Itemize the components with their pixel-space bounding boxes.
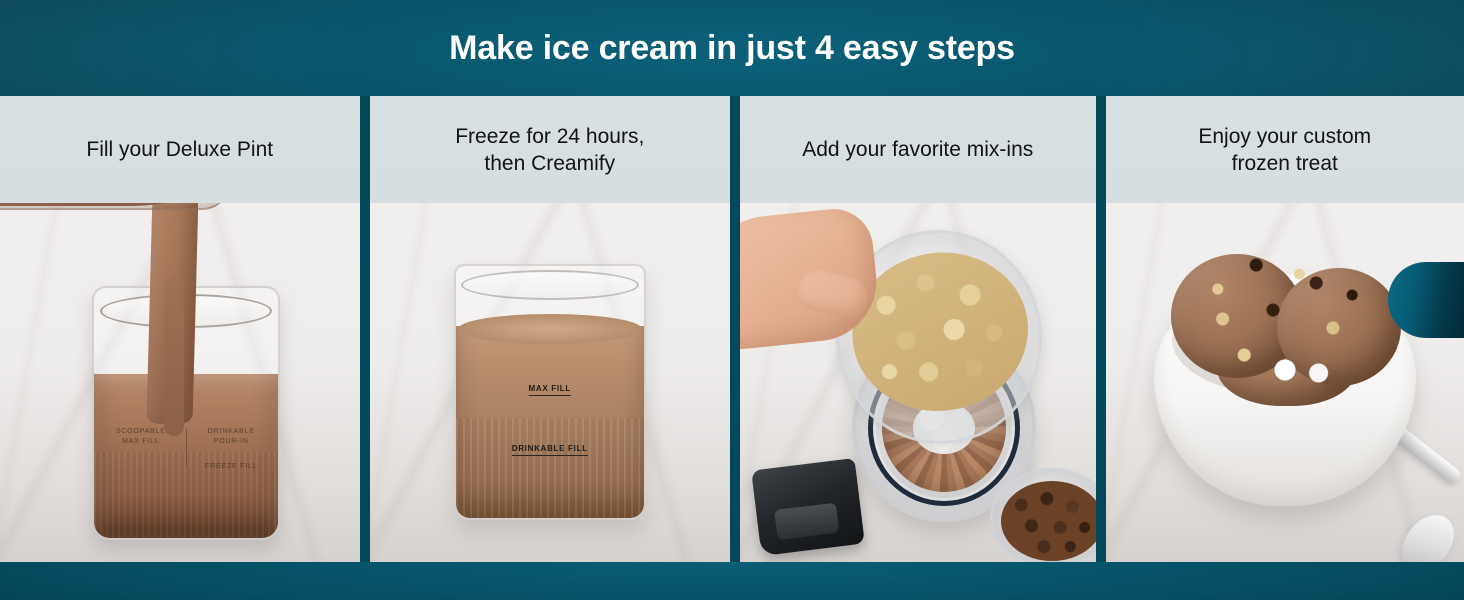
- chocolate-chips: [1001, 481, 1096, 561]
- label-drinkable-sub: POUR-IN: [198, 438, 264, 445]
- label-scoopable-sub: MAX FILL: [108, 438, 174, 445]
- step-2-caption: Freeze for 24 hours, then Creamify: [370, 96, 730, 203]
- frozen-pint-container: MAX FILL DRINKABLE FILL: [454, 264, 646, 520]
- step-4-caption-line-1: Enjoy your custom: [1198, 123, 1371, 150]
- label-freeze-fill: FREEZE FILL: [198, 463, 264, 470]
- step-3-caption: Add your favorite mix-ins: [740, 96, 1096, 203]
- pint-rim: [461, 270, 639, 300]
- max-fill-line: MAX FILL: [528, 384, 570, 396]
- ice-cream-scoops: [1165, 244, 1405, 394]
- pint-fill-labels: SCOOPABLE MAX FILL DRINKABLE POUR-IN FRE…: [108, 428, 264, 470]
- step-4-caption-line-2: frozen treat: [1198, 150, 1371, 177]
- step-4-caption: Enjoy your custom frozen treat: [1106, 96, 1464, 203]
- step-panel-1[interactable]: SCOOPABLE MAX FILL DRINKABLE POUR-IN FRE…: [0, 96, 360, 562]
- frozen-base-surface: [458, 314, 642, 344]
- pint-ridges: [456, 418, 644, 518]
- toppings: [1165, 244, 1405, 394]
- accent-pill-shape: [1388, 262, 1464, 338]
- pouring-stream-tail: [164, 276, 184, 436]
- drinkable-fill-line: DRINKABLE FILL: [512, 444, 588, 456]
- step-1-caption: Fill your Deluxe Pint: [0, 96, 360, 203]
- steps-row: SCOOPABLE MAX FILL DRINKABLE POUR-IN FRE…: [0, 96, 1464, 562]
- banner-header: Make ice cream in just 4 easy steps: [0, 0, 1464, 96]
- banner-footer: [0, 562, 1464, 600]
- label-divider: [186, 428, 187, 466]
- machine-handle: [751, 458, 865, 556]
- banner-title: Make ice cream in just 4 easy steps: [0, 0, 1464, 96]
- step-panel-3[interactable]: Add your favorite mix-ins: [740, 96, 1096, 562]
- promo-banner: Make ice cream in just 4 easy steps SCOO…: [0, 0, 1464, 600]
- label-drinkable: DRINKABLE: [208, 428, 255, 435]
- step-2-caption-line-1: Freeze for 24 hours,: [455, 123, 644, 150]
- label-scoopable: SCOOPABLE: [116, 428, 166, 435]
- step-3-caption-line-1: Add your favorite mix-ins: [802, 136, 1033, 163]
- step-1-caption-line-1: Fill your Deluxe Pint: [86, 136, 273, 163]
- step-panel-2[interactable]: MAX FILL DRINKABLE FILL Freeze for 24 ho…: [370, 96, 730, 562]
- step-2-caption-line-2: then Creamify: [455, 150, 644, 177]
